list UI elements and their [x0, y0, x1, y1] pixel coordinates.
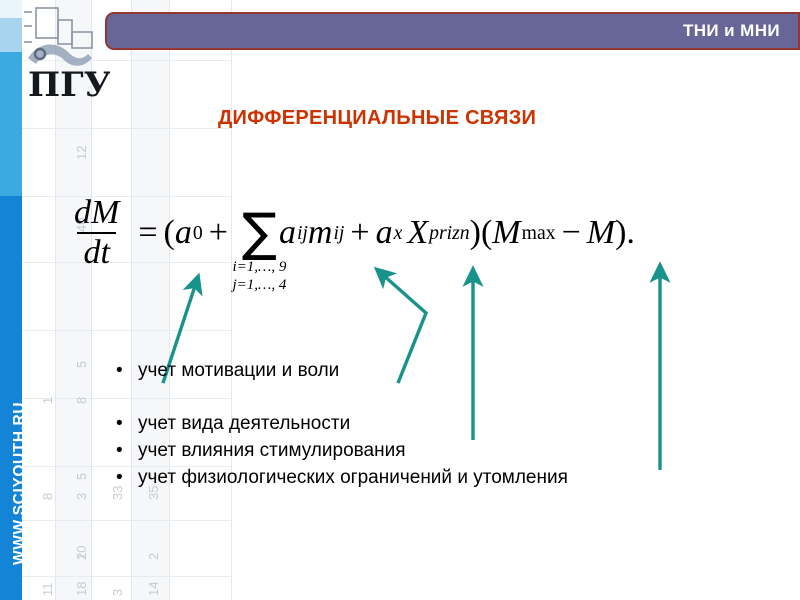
open-paren-2: ( — [481, 214, 492, 252]
subscript-prizn: prizn — [429, 222, 470, 245]
pgu-university-logo: ПГУ — [14, 2, 110, 102]
section-heading: ДИФФЕРЕНЦИАЛЬНЫЕ СВЯЗИ — [218, 107, 536, 130]
background-number: 1 — [74, 553, 89, 560]
bullet-list: • учет мотивации и воли • учет вида деят… — [116, 358, 716, 492]
term-a-x: a — [376, 214, 393, 252]
fraction-denominator: dt — [77, 232, 115, 271]
bullet-text: учет вида деятельности — [138, 411, 350, 438]
bullet-text: учет влияния стимулирования — [138, 438, 405, 465]
plus-sign-1: + — [209, 214, 228, 252]
subscript-max: max — [522, 222, 556, 245]
bullet-marker: • — [116, 358, 138, 385]
term-m-ij: m — [308, 214, 333, 252]
sidebar-watermark-label: WWW.SCIYOUTH.RU — [11, 402, 29, 565]
minus-sign: − — [562, 214, 581, 252]
fraction-numerator: dM — [68, 196, 125, 232]
background-number: 5 — [74, 473, 89, 480]
close-paren: ) — [470, 214, 481, 252]
header-title: ТНИ и МНИ — [683, 21, 798, 41]
open-paren: ( — [164, 214, 175, 252]
equals-sign: = — [138, 214, 157, 252]
background-number: 12 — [74, 146, 89, 160]
bullet-marker: • — [116, 465, 138, 492]
differential-equation-formula: dM dt = ( a0 + ∑ i=1,…, 9 j=1,…, 4 aij m… — [68, 196, 635, 270]
summation-sign: ∑ — [242, 213, 277, 254]
background-number: 1 — [40, 397, 55, 404]
term-M: M — [587, 214, 615, 252]
term-M-max: M — [492, 214, 520, 252]
close-paren-2: ) — [615, 214, 626, 252]
svg-text:ПГУ: ПГУ — [28, 65, 110, 102]
background-number: 5 — [74, 361, 89, 368]
background-number: 2 — [146, 553, 161, 560]
list-item: • учет вида деятельности — [116, 411, 716, 438]
term-a-ij: a — [279, 214, 296, 252]
background-number: 14 — [146, 582, 161, 596]
fraction-dM-dt: dM dt — [68, 196, 125, 270]
background-number: 18 — [74, 582, 89, 596]
term-a0: a — [175, 214, 192, 252]
header-bar: ТНИ и МНИ — [105, 12, 800, 50]
background-row — [22, 520, 232, 521]
background-number: 8 — [40, 493, 55, 500]
background-column — [170, 0, 232, 600]
plus-sign-2: + — [350, 214, 369, 252]
slide-canvas: 12 40 1 8 5 20 5 8 3 33 35 1 2 11 18 3 1… — [0, 0, 800, 600]
background-row — [22, 330, 232, 331]
background-row — [22, 576, 232, 577]
term-X: X — [407, 214, 428, 252]
background-number: 3 — [74, 493, 89, 500]
subscript-x: x — [394, 222, 403, 245]
subscript-ij-a: ij — [297, 222, 308, 245]
list-item: • учет мотивации и воли — [116, 358, 716, 385]
background-column — [132, 0, 170, 600]
list-spacer — [116, 385, 716, 411]
bullet-text: учет мотивации и воли — [138, 358, 339, 385]
summation-block: ∑ i=1,…, 9 j=1,…, 4 — [242, 213, 277, 254]
subscript-0: 0 — [193, 222, 203, 245]
subscript-ij-m: ij — [333, 222, 344, 245]
bullet-marker: • — [116, 438, 138, 465]
summation-limit-i: i=1,…, 9 — [232, 259, 286, 275]
background-number: 3 — [110, 589, 125, 596]
summation-limits: i=1,…, 9 j=1,…, 4 — [232, 259, 286, 294]
bullet-marker: • — [116, 411, 138, 438]
list-item: • учет влияния стимулирования — [116, 438, 716, 465]
period: . — [626, 214, 635, 252]
bullet-text: учет физиологических ограничений и утомл… — [138, 465, 568, 492]
list-item: • учет физиологических ограничений и уто… — [116, 465, 716, 492]
summation-limit-j: j=1,…, 4 — [232, 277, 286, 293]
background-number: 11 — [40, 583, 55, 597]
background-row — [22, 128, 232, 129]
background-number: 8 — [74, 397, 89, 404]
